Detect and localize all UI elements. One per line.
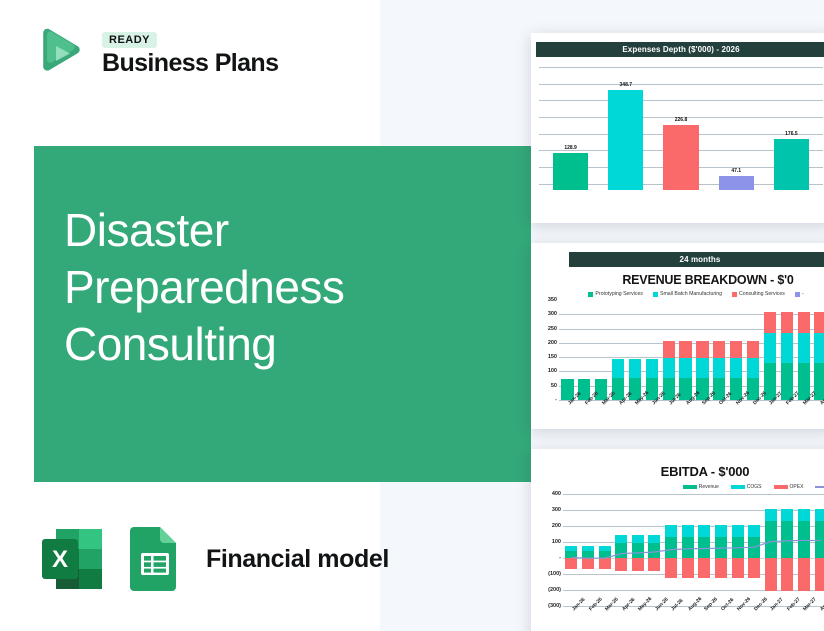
bar-segment — [698, 525, 710, 537]
expenses-title-bar: Expenses Depth ($'000) - 2026 — [536, 42, 824, 57]
financial-model-label: Financial model — [206, 545, 389, 574]
bar-segment — [698, 558, 710, 578]
legend-label: - — [802, 291, 804, 297]
bar-column — [643, 300, 660, 400]
bar-segment — [599, 558, 611, 569]
stacked-bar-negative — [732, 558, 744, 578]
bar-column — [729, 494, 746, 606]
bar-column: 47.1 — [709, 65, 764, 190]
bar-segment — [682, 537, 694, 558]
legend-item: Prototyping Services — [588, 291, 643, 297]
bar-segment — [765, 509, 777, 521]
bar-column — [580, 494, 597, 606]
bar-segment — [814, 333, 824, 363]
revenue-breakdown-card[interactable]: 24 months REVENUE BREAKDOWN - $'0 Protot… — [531, 243, 824, 429]
bar-column — [559, 300, 576, 400]
bar-segment — [615, 543, 627, 558]
y-tick-label: - — [559, 555, 561, 561]
bar-segment — [781, 333, 793, 363]
bar-segment — [565, 551, 577, 558]
ebitda-card[interactable]: EBITDA - $'000 RevenueCOGSOPEX0 40030020… — [531, 449, 824, 631]
footer-formats: X Financial model — [34, 521, 389, 597]
stacked-bar — [713, 341, 725, 400]
y-tick-label: 300 — [548, 311, 557, 317]
bar-column — [694, 300, 711, 400]
bar-column — [679, 494, 696, 606]
y-tick-label: (100) — [548, 571, 561, 577]
bar-column — [610, 300, 627, 400]
bar-segment — [599, 551, 611, 558]
bar-segment — [565, 558, 577, 569]
bar-segment — [696, 341, 708, 358]
legend-item: OPEX — [774, 484, 804, 490]
bar-segment — [730, 341, 742, 358]
bar-column — [745, 300, 762, 400]
revenue-x-axis: Jan-26Feb-26Mar-26Apr-26May-26Jun-26Jul-… — [559, 400, 824, 426]
bar-segment — [629, 359, 641, 379]
stacked-bar-negative — [815, 558, 824, 591]
microsoft-excel-icon: X — [34, 521, 110, 597]
legend-item: 0 — [815, 484, 824, 490]
bar-segment — [730, 358, 742, 378]
bar-column — [630, 494, 647, 606]
bar-column — [812, 300, 824, 400]
ebitda-x-axis: Jan-26Feb-26Mar-26Apr-26May-26Jun-26Jul-… — [563, 606, 824, 631]
bar-column — [576, 300, 593, 400]
expenses-depth-card[interactable]: Expenses Depth ($'000) - 2026 128.9348.7… — [531, 33, 824, 223]
stacked-bar — [679, 341, 691, 400]
stacked-bar — [730, 341, 742, 400]
bar-column — [593, 300, 610, 400]
legend-item: COGS — [731, 484, 762, 490]
chart-bars: 128.9348.7226.847.1176.5 — [539, 65, 823, 190]
bar-column — [696, 494, 713, 606]
stacked-bar — [798, 312, 810, 400]
legend-label: Consulting Services — [739, 291, 785, 297]
revenue-legend: Prototyping ServicesSmall Batch Manufact… — [531, 291, 824, 297]
chart-bars — [559, 300, 824, 400]
bar-segment — [781, 509, 793, 521]
bar-column — [663, 494, 680, 606]
stacked-bar-positive — [698, 525, 710, 558]
google-sheets-icon — [124, 521, 186, 597]
stacked-bar-negative — [599, 558, 611, 569]
y-tick-label: 200 — [552, 523, 561, 529]
bar-segment — [815, 509, 824, 521]
stacked-bar-negative — [632, 558, 644, 571]
bar — [663, 125, 698, 190]
bar-column — [796, 494, 813, 606]
bar-column — [711, 300, 728, 400]
bar-segment — [748, 537, 760, 558]
stacked-bar-positive — [781, 509, 793, 558]
bar-column — [795, 300, 812, 400]
bar-segment — [713, 358, 725, 378]
bar-segment — [663, 341, 675, 358]
legend-swatch — [653, 292, 658, 297]
legend-label: OPEX — [790, 484, 804, 490]
ready-badge: READY — [102, 32, 157, 48]
stacked-bar-negative — [565, 558, 577, 569]
legend-item: Revenue — [683, 484, 719, 490]
bar-column — [762, 300, 779, 400]
bar-segment — [798, 509, 810, 521]
brand-lockup: READY Business Plans — [34, 26, 278, 82]
ebitda-legend: RevenueCOGSOPEX0 — [531, 484, 824, 490]
y-tick-label: (200) — [548, 587, 561, 593]
legend-swatch — [795, 292, 800, 297]
bar-column — [627, 300, 644, 400]
stacked-bar-negative — [765, 558, 777, 591]
bar-segment — [715, 537, 727, 558]
bar-segment — [648, 558, 660, 571]
bar-segment — [765, 521, 777, 558]
ebitda-y-axis: 400300200100-(100)(200)(300) — [533, 494, 563, 606]
bar-segment — [679, 341, 691, 358]
stacked-bar-positive — [748, 525, 760, 558]
y-tick-label: 300 — [552, 507, 561, 513]
stacked-bar-negative — [781, 558, 793, 591]
bar-segment — [615, 535, 627, 543]
y-tick-label: 250 — [548, 326, 557, 332]
stacked-bar-negative — [698, 558, 710, 578]
y-tick-label: (300) — [548, 603, 561, 609]
bar-column — [763, 494, 780, 606]
legend-swatch — [683, 485, 697, 489]
stacked-bar-positive — [582, 546, 594, 558]
bar-column: 348.7 — [598, 65, 653, 190]
bar-segment — [646, 359, 658, 379]
bar — [774, 139, 809, 190]
stacked-bar-positive — [682, 525, 694, 558]
legend-swatch — [731, 485, 745, 489]
bar — [719, 176, 754, 190]
bar-segment — [764, 333, 776, 363]
stacked-bar-negative — [648, 558, 660, 571]
page-title: Disaster Preparedness Consulting — [64, 202, 504, 373]
bar-column — [613, 494, 630, 606]
bar-segment — [682, 525, 694, 537]
bar-segment — [732, 525, 744, 537]
y-tick-label: 350 — [548, 297, 557, 303]
bar-segment — [713, 341, 725, 358]
bar-column — [746, 494, 763, 606]
stacked-bar-negative — [715, 558, 727, 578]
ebitda-chart-heading: EBITDA - $'000 — [531, 464, 824, 479]
legend-swatch — [774, 485, 788, 489]
bar-column — [646, 494, 663, 606]
stacked-bar-positive — [632, 535, 644, 558]
bar-value-label: 226.8 — [675, 117, 688, 123]
bar-segment — [748, 558, 760, 578]
bar-column: 176.5 — [764, 65, 819, 190]
y-tick-label: 200 — [548, 340, 557, 346]
bar-segment — [798, 312, 810, 333]
bar-column: 128.9 — [543, 65, 598, 190]
bar-column: 226.8 — [653, 65, 708, 190]
y-tick-label: 100 — [552, 539, 561, 545]
bar-segment — [747, 341, 759, 358]
bar-segment — [632, 543, 644, 558]
stacked-bar-positive — [715, 525, 727, 558]
bar-column — [563, 494, 580, 606]
brand-text-block: READY Business Plans — [102, 32, 278, 76]
brand-name: Business Plans — [102, 51, 278, 76]
bar-segment — [632, 558, 644, 571]
stacked-bar-negative — [665, 558, 677, 578]
stacked-bar-positive — [599, 546, 611, 558]
bar-value-label: 176.5 — [785, 131, 798, 137]
bar-segment — [665, 537, 677, 558]
hero-block: Disaster Preparedness Consulting — [34, 146, 531, 482]
bar-segment — [732, 537, 744, 558]
stacked-bar-negative — [682, 558, 694, 578]
bar-segment — [764, 312, 776, 333]
stacked-bar-positive — [815, 509, 824, 558]
bar-segment — [798, 333, 810, 363]
stacked-bar-positive — [565, 546, 577, 558]
slide-canvas: READY Business Plans Disaster Preparedne… — [0, 0, 824, 631]
chart-bars — [563, 494, 824, 606]
bar-segment — [781, 312, 793, 333]
bar-segment — [665, 558, 677, 578]
stacked-bar — [814, 312, 824, 400]
bar-segment — [682, 558, 694, 578]
bar-segment — [648, 543, 660, 558]
legend-item: Small Batch Manufacturing — [653, 291, 722, 297]
bar-column — [596, 494, 613, 606]
bar-segment — [582, 551, 594, 558]
y-tick-label: 50 — [551, 383, 557, 389]
stacked-bar-positive — [615, 535, 627, 558]
bar — [608, 90, 643, 190]
revenue-months-bar: 24 months — [569, 252, 824, 267]
bar-segment — [748, 525, 760, 537]
bar-segment — [732, 558, 744, 578]
stacked-bar-positive — [665, 525, 677, 558]
bar-segment — [747, 358, 759, 378]
bar-column — [713, 494, 730, 606]
stacked-bar-negative — [582, 558, 594, 569]
stacked-bar-negative — [615, 558, 627, 571]
bar-segment — [815, 558, 824, 591]
bar-segment — [648, 535, 660, 543]
legend-label: COGS — [747, 484, 762, 490]
legend-item: - — [795, 291, 804, 297]
bar-segment — [696, 358, 708, 378]
bar-column — [812, 494, 824, 606]
stacked-bar-positive — [648, 535, 660, 558]
bar-segment — [679, 358, 691, 378]
svg-text:X: X — [52, 546, 68, 573]
bar-segment — [798, 521, 810, 558]
y-tick-label: - — [555, 397, 557, 403]
stacked-bar — [764, 312, 776, 400]
bar — [553, 153, 588, 190]
play-triangle-logo-icon — [34, 26, 90, 82]
bar-segment — [781, 558, 793, 591]
bar-segment — [781, 521, 793, 558]
bar-column — [728, 300, 745, 400]
bar-segment — [663, 358, 675, 378]
stacked-bar-positive — [765, 509, 777, 558]
legend-swatch — [588, 292, 593, 297]
bar-segment — [632, 535, 644, 543]
bar-segment — [814, 312, 824, 333]
bar-column — [778, 300, 795, 400]
legend-label: Revenue — [699, 484, 719, 490]
legend-item: Consulting Services — [732, 291, 785, 297]
expenses-depth-chart: 128.9348.7226.847.1176.5 — [539, 65, 823, 190]
y-tick-label: 100 — [548, 368, 557, 374]
bar-value-label: 47.1 — [731, 168, 741, 174]
stacked-bar-negative — [798, 558, 810, 591]
bar-value-label: 128.9 — [564, 145, 577, 151]
stacked-bar — [781, 312, 793, 400]
stacked-bar-positive — [798, 509, 810, 558]
bar-segment — [715, 558, 727, 578]
bar-segment — [765, 558, 777, 591]
bar-segment — [815, 521, 824, 558]
stacked-bar — [663, 341, 675, 400]
legend-swatch — [732, 292, 737, 297]
bar-value-label: 348.7 — [620, 82, 633, 88]
bar-column — [660, 300, 677, 400]
revenue-y-axis: 35030025020015010050- — [533, 300, 559, 400]
bar-segment — [582, 558, 594, 569]
bar-segment — [615, 558, 627, 571]
y-tick-label: 400 — [552, 491, 561, 497]
legend-swatch — [815, 486, 824, 488]
bar-segment — [665, 525, 677, 537]
bar-segment — [798, 558, 810, 591]
revenue-chart-heading: REVENUE BREAKDOWN - $'0 — [531, 273, 824, 287]
stacked-bar-positive — [732, 525, 744, 558]
bar-segment — [612, 359, 624, 379]
legend-label: Small Batch Manufacturing — [660, 291, 722, 297]
bar-column — [677, 300, 694, 400]
stacked-bar-negative — [748, 558, 760, 578]
bar-segment — [715, 525, 727, 537]
bar-column — [779, 494, 796, 606]
legend-label: Prototyping Services — [595, 291, 643, 297]
bar-segment — [698, 537, 710, 558]
y-tick-label: 150 — [548, 354, 557, 360]
